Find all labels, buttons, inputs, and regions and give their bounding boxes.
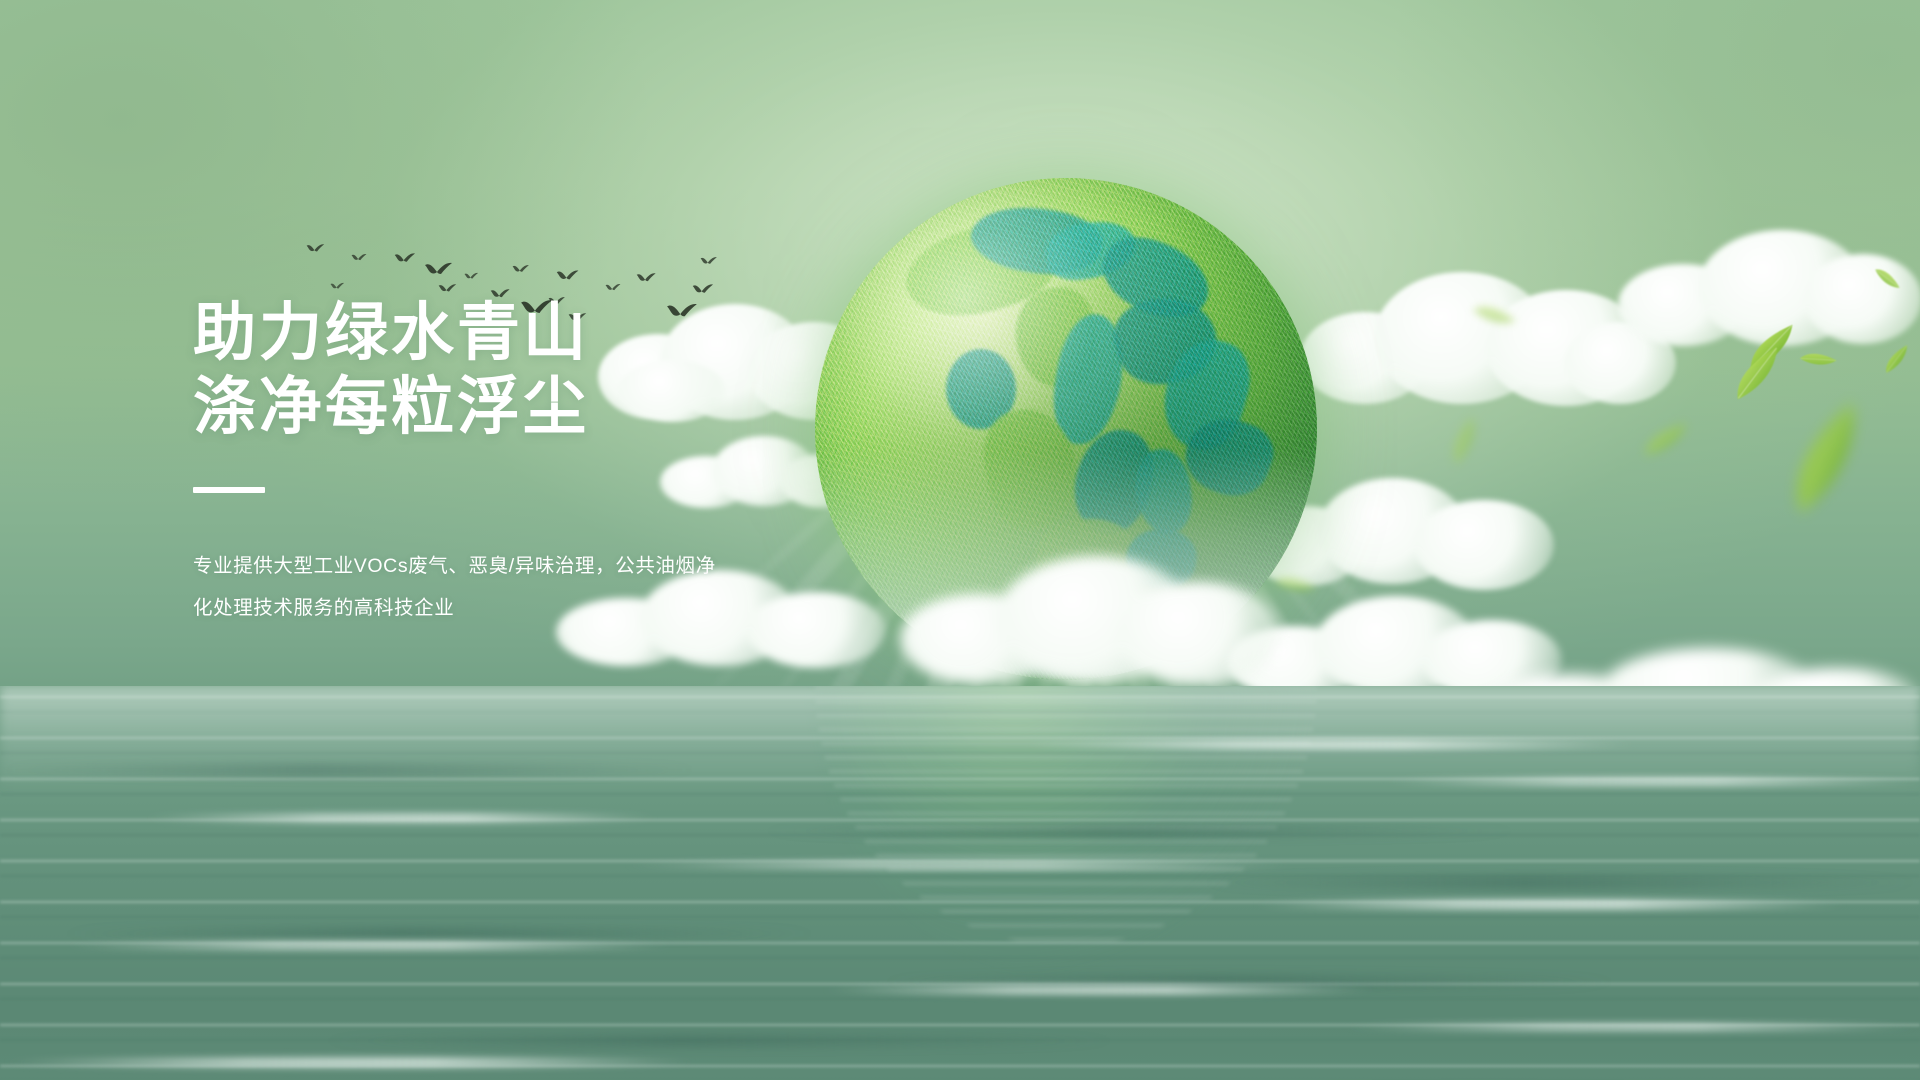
bird-icon xyxy=(605,283,628,295)
water-surface xyxy=(0,686,1920,1080)
headline-line-2: 涤净每粒浮尘 xyxy=(193,370,893,444)
bird-icon xyxy=(700,256,725,269)
water-light-streak xyxy=(140,814,660,822)
bird-icon xyxy=(464,272,485,283)
water-light-streak xyxy=(60,942,680,949)
water-light-streak xyxy=(1340,1024,1920,1030)
water-dark-streak xyxy=(60,928,820,939)
cloud-puff xyxy=(1116,582,1280,686)
water-dark-streak xyxy=(1200,876,1920,889)
hero-subtitle: 专业提供大型工业VOCs废气、恶臭/异味治理，公共油烟净化处理技术服务的高科技企… xyxy=(193,545,727,629)
bird-icon xyxy=(330,282,351,293)
eco-banner: 助力绿水青山 涤净每粒浮尘 专业提供大型工业VOCs废气、恶臭/异味治理，公共油… xyxy=(0,0,1920,1080)
bird-icon xyxy=(512,264,537,277)
cloud-puff xyxy=(1804,254,1920,344)
hero-copy: 助力绿水青山 涤净每粒浮尘 专业提供大型工业VOCs废气、恶臭/异味治理，公共油… xyxy=(193,296,893,649)
water-dark-streak xyxy=(320,1036,1120,1046)
water-light-streak xyxy=(1250,900,1850,909)
cloud-far-right xyxy=(1618,220,1918,350)
bird-icon xyxy=(351,253,374,265)
bird-icon xyxy=(636,272,665,287)
water-light-streak xyxy=(620,862,1300,868)
water-light-streak xyxy=(820,986,1380,994)
water-light-streak xyxy=(0,1058,700,1067)
cloud-globe-base xyxy=(900,540,1280,690)
water-dark-streak xyxy=(760,826,1520,836)
bird-icon xyxy=(424,261,466,282)
cloud-right-large xyxy=(1300,260,1660,410)
headline-divider xyxy=(193,487,265,493)
bird-icon xyxy=(438,283,465,297)
bird-icon xyxy=(556,269,590,286)
headline-line-1: 助力绿水青山 xyxy=(193,296,893,370)
water-horizon-haze xyxy=(0,686,1920,796)
bird-icon xyxy=(394,252,426,268)
cloud-puff xyxy=(1414,500,1554,590)
bird-icon xyxy=(306,243,333,257)
